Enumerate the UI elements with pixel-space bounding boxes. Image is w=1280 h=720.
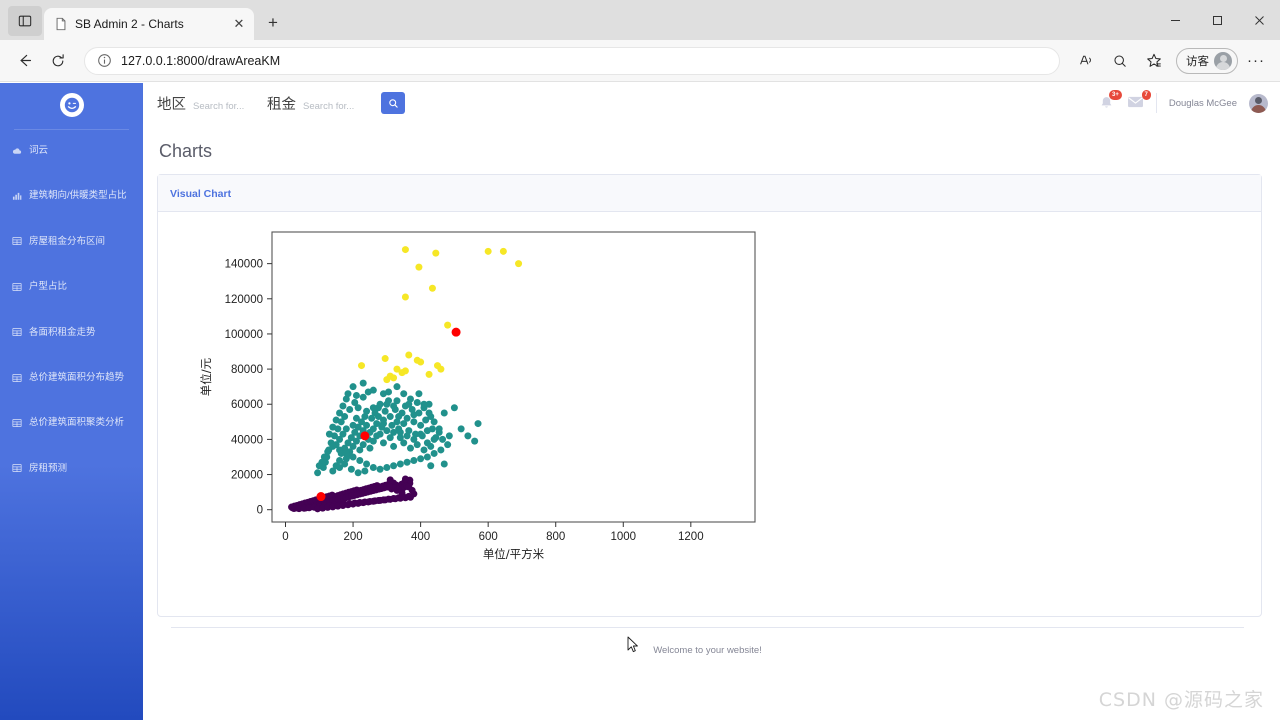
data-point (343, 450, 350, 457)
scatter-chart: 0200400600800100012000200004000060000800… (170, 224, 1249, 604)
data-point (399, 490, 406, 497)
data-point (400, 390, 407, 397)
messages-button[interactable]: 7 (1127, 95, 1144, 111)
data-point (500, 248, 507, 255)
data-point (373, 432, 380, 439)
topbar-divider (1156, 93, 1157, 113)
data-point (356, 457, 363, 464)
page-title: Charts (159, 141, 1262, 162)
data-point (360, 380, 367, 387)
data-point (395, 413, 402, 420)
sidebar-item-rent-prediction[interactable]: 房租预测 (0, 454, 143, 483)
data-point (414, 441, 421, 448)
data-point (424, 453, 431, 460)
data-point (404, 432, 411, 439)
data-point (345, 390, 352, 397)
data-point (382, 408, 389, 415)
data-point (353, 392, 360, 399)
scatter-chart-svg: 0200400600800100012000200004000060000800… (170, 224, 1240, 574)
plot-frame (272, 232, 755, 522)
data-point (390, 403, 397, 410)
data-point (429, 285, 436, 292)
back-button[interactable] (8, 45, 40, 77)
table-icon (12, 463, 22, 473)
sidebar-item-label: 户型占比 (29, 281, 67, 292)
data-point (471, 438, 478, 445)
close-icon (1254, 15, 1265, 26)
data-point (387, 413, 394, 420)
data-point (405, 483, 412, 490)
data-point (415, 264, 422, 271)
data-point (390, 443, 397, 450)
tab-title: SB Admin 2 - Charts (75, 17, 223, 31)
sidebar-item-layout-ratio[interactable]: 户型占比 (0, 272, 143, 301)
data-point (390, 374, 397, 381)
sidebar-gap (0, 392, 143, 408)
data-point (402, 246, 409, 253)
data-point (350, 453, 357, 460)
data-point (431, 450, 438, 457)
read-aloud-button[interactable] (1070, 45, 1102, 77)
page-footer: Welcome to your website! (171, 627, 1244, 673)
table-icon (12, 236, 22, 246)
data-point (380, 420, 387, 427)
search-label-region: 地区 (157, 93, 186, 114)
data-point (383, 427, 390, 434)
data-point (400, 439, 407, 446)
table-icon (12, 373, 22, 383)
x-tick-label: 1000 (610, 531, 636, 543)
table-icon (12, 327, 22, 337)
browser-more-button[interactable]: ··· (1240, 45, 1272, 77)
maximize-icon (1212, 15, 1223, 26)
data-point (452, 328, 461, 337)
smiley-icon (64, 97, 80, 113)
data-point (377, 401, 384, 408)
data-point (410, 457, 417, 464)
search-submit-button[interactable] (381, 92, 405, 114)
sidebar-panel-icon (18, 14, 32, 28)
data-point (360, 431, 369, 440)
data-point (420, 446, 427, 453)
new-tab-button[interactable]: + (260, 10, 286, 36)
data-point (346, 406, 353, 413)
data-point (387, 476, 394, 483)
data-point (441, 410, 448, 417)
footer-text: Welcome to your website! (653, 645, 762, 656)
browser-tab[interactable]: SB Admin 2 - Charts ✕ (44, 8, 254, 40)
data-point (397, 461, 404, 468)
data-point (464, 432, 471, 439)
data-point (370, 464, 377, 471)
chart-card-body: 0200400600800100012000200004000060000800… (158, 212, 1261, 616)
sidebar-gap (0, 211, 143, 227)
sidebar-item-rent-distribution[interactable]: 房屋租金分布区间 (0, 227, 143, 256)
page-body: Charts Visual Chart 02004006008001000120… (143, 123, 1280, 720)
tab-sidebar-button[interactable] (8, 6, 42, 36)
data-point (417, 422, 424, 429)
alerts-button[interactable]: 3+ (1098, 95, 1115, 111)
table-icon (12, 282, 22, 292)
messages-badge: 7 (1142, 90, 1151, 100)
data-point (366, 445, 373, 452)
search-input-region[interactable] (193, 101, 257, 112)
sidebar-item-wordcloud[interactable]: 词云 (0, 136, 143, 165)
sidebar-item-label: 各面积租金走势 (29, 327, 96, 338)
window-minimize-button[interactable] (1154, 0, 1196, 40)
search-input-rent[interactable] (303, 101, 367, 112)
search-in-page-button[interactable] (1104, 45, 1136, 77)
sidebar-item-label: 总价建筑面积分布趋势 (29, 372, 124, 383)
data-point (515, 260, 522, 267)
data-point (432, 250, 439, 257)
sidebar-item-area-rent-trend[interactable]: 各面积租金走势 (0, 318, 143, 347)
data-point (436, 425, 443, 432)
y-tick-label: 20000 (231, 470, 263, 482)
data-point (446, 432, 453, 439)
data-point (427, 462, 434, 469)
data-point (355, 404, 362, 411)
y-tick-label: 120000 (225, 294, 263, 306)
chart-card: Visual Chart 020040060080010001200020000… (157, 174, 1262, 617)
data-point (475, 420, 482, 427)
mouse-cursor-icon (627, 636, 639, 654)
data-point (341, 461, 348, 468)
browser-profile-button[interactable]: 访客 (1176, 48, 1238, 74)
y-tick-label: 0 (257, 505, 263, 517)
data-point (386, 483, 393, 490)
sidebar-item-total-price-area-cluster[interactable]: 总价建筑面积聚类分析 (0, 408, 143, 437)
browser-toolbar: 127.0.0.1:8000/drawAreaKM 访客 (0, 40, 1280, 82)
data-point (393, 383, 400, 390)
data-point (350, 383, 357, 390)
browser-tabstrip: SB Admin 2 - Charts ✕ + (0, 0, 1280, 40)
data-point (385, 397, 392, 404)
bar-chart-icon (12, 191, 22, 201)
x-tick-label: 200 (343, 531, 362, 543)
data-point (417, 431, 424, 438)
data-point (370, 387, 377, 394)
y-tick-label: 100000 (225, 329, 263, 341)
data-point (363, 422, 370, 429)
window-controls (1154, 0, 1280, 40)
x-tick-label: 1200 (678, 531, 704, 543)
x-axis-label: 单位/平方米 (483, 547, 545, 561)
data-point (316, 462, 323, 469)
window-close-button[interactable] (1238, 0, 1280, 40)
data-point (343, 425, 350, 432)
data-point (361, 468, 368, 475)
chart-card-header: Visual Chart (158, 175, 1261, 212)
info-icon (97, 53, 112, 68)
data-point (420, 401, 427, 408)
data-point (377, 466, 384, 473)
avatar[interactable] (1249, 94, 1268, 113)
data-point (451, 404, 458, 411)
content-area: 地区 租金 (143, 83, 1280, 720)
sidebar-gap (0, 256, 143, 272)
y-tick-label: 140000 (225, 259, 263, 271)
search-group-region: 地区 (157, 93, 257, 114)
data-point (415, 390, 422, 397)
data-point (444, 441, 451, 448)
topbar-right: 3+ 7 Douglas McGee (1098, 93, 1268, 113)
y-axis-label: 单位/元 (199, 357, 213, 396)
sidebar-item-label: 总价建筑面积聚类分析 (29, 417, 124, 428)
data-point (404, 415, 411, 422)
data-point (437, 366, 444, 373)
data-point (444, 322, 451, 329)
data-point (417, 359, 424, 366)
browser-profile-avatar (1214, 52, 1232, 70)
data-point (363, 461, 370, 468)
data-point (405, 352, 412, 359)
address-bar-url: 127.0.0.1:8000/drawAreaKM (121, 54, 280, 68)
data-point (387, 434, 394, 441)
data-point (431, 418, 438, 425)
data-point (407, 445, 414, 452)
address-bar[interactable]: 127.0.0.1:8000/drawAreaKM (84, 47, 1060, 75)
data-point (316, 492, 325, 501)
data-point (355, 469, 362, 476)
data-point (402, 294, 409, 301)
data-point (441, 461, 448, 468)
data-point (375, 413, 382, 420)
sidebar-gap (0, 438, 143, 454)
data-point (410, 411, 417, 418)
data-point (360, 394, 367, 401)
search-icon (1112, 53, 1128, 69)
user-name-label: Douglas McGee (1169, 98, 1237, 109)
search-icon (388, 98, 399, 109)
table-icon (12, 418, 22, 428)
data-point (333, 417, 340, 424)
data-point (336, 410, 343, 417)
data-point (360, 441, 367, 448)
sidebar-gap (0, 165, 143, 181)
cloud-icon (12, 146, 22, 156)
window-maximize-button[interactable] (1196, 0, 1238, 40)
data-point (426, 410, 433, 417)
sidebar-divider (14, 129, 129, 130)
data-point (350, 422, 357, 429)
data-point (380, 439, 387, 446)
data-point (410, 418, 417, 425)
browser-window: SB Admin 2 - Charts ✕ + (0, 0, 1280, 720)
browser-profile-label: 访客 (1186, 53, 1209, 69)
sidebar-brand[interactable] (0, 83, 143, 127)
data-point (382, 355, 389, 362)
data-point (329, 424, 336, 431)
data-point (383, 464, 390, 471)
data-point (402, 367, 409, 374)
brand-logo-icon (60, 93, 84, 117)
data-point (437, 446, 444, 453)
data-point (326, 431, 333, 438)
x-tick-label: 400 (411, 531, 430, 543)
sidebar-gap (0, 302, 143, 318)
arrow-left-icon (16, 52, 33, 69)
data-point (339, 403, 346, 410)
alerts-badge: 3+ (1109, 90, 1122, 100)
data-point (417, 455, 424, 462)
sidebar-gap (0, 347, 143, 363)
data-point (314, 469, 321, 476)
search-label-rent: 租金 (267, 93, 296, 114)
x-tick-label: 800 (546, 531, 565, 543)
data-point (329, 443, 336, 450)
sidebar-item-label: 房租预测 (29, 463, 67, 474)
reload-icon (50, 53, 66, 69)
data-point (427, 443, 434, 450)
search-group-rent: 租金 (267, 93, 367, 114)
data-point (358, 362, 365, 369)
sidebar: 词云 建筑朝向/供暖类型占比 房 (0, 83, 143, 720)
minimize-icon (1170, 15, 1181, 26)
x-tick-label: 0 (282, 531, 288, 543)
data-point (426, 371, 433, 378)
sidebar-item-label: 建筑朝向/供暖类型占比 (29, 190, 127, 201)
page-icon (54, 17, 68, 31)
reload-button[interactable] (42, 45, 74, 77)
sidebar-item-label: 词云 (29, 145, 48, 156)
data-point (348, 466, 355, 473)
y-tick-label: 60000 (231, 399, 263, 411)
chart-card-title: Visual Chart (170, 188, 231, 200)
data-point (458, 425, 465, 432)
data-point (429, 425, 436, 432)
data-point (439, 436, 446, 443)
data-point (397, 429, 404, 436)
topbar: 地区 租金 (143, 83, 1280, 123)
app-root: 词云 建筑朝向/供暖类型占比 房 (0, 83, 1280, 720)
sidebar-item-label: 房屋租金分布区间 (29, 236, 105, 247)
favorites-button[interactable] (1138, 45, 1170, 77)
data-point (404, 459, 411, 466)
data-point (485, 248, 492, 255)
data-point (402, 475, 409, 482)
y-tick-label: 80000 (231, 364, 263, 376)
data-point (390, 462, 397, 469)
data-point (363, 408, 370, 415)
y-tick-label: 40000 (231, 434, 263, 446)
x-tick-label: 600 (479, 531, 498, 543)
data-point (336, 446, 343, 453)
data-point (414, 399, 421, 406)
data-point (405, 401, 412, 408)
sidebar-item-total-price-area-trend[interactable]: 总价建筑面积分布趋势 (0, 363, 143, 392)
data-point (353, 415, 360, 422)
data-point (380, 390, 387, 397)
star-icon (1145, 52, 1163, 70)
sidebar-item-orientation-heating[interactable]: 建筑朝向/供暖类型占比 (0, 181, 143, 210)
tab-close-button[interactable]: ✕ (230, 15, 248, 33)
read-aloud-icon (1078, 52, 1095, 69)
data-point (370, 404, 377, 411)
